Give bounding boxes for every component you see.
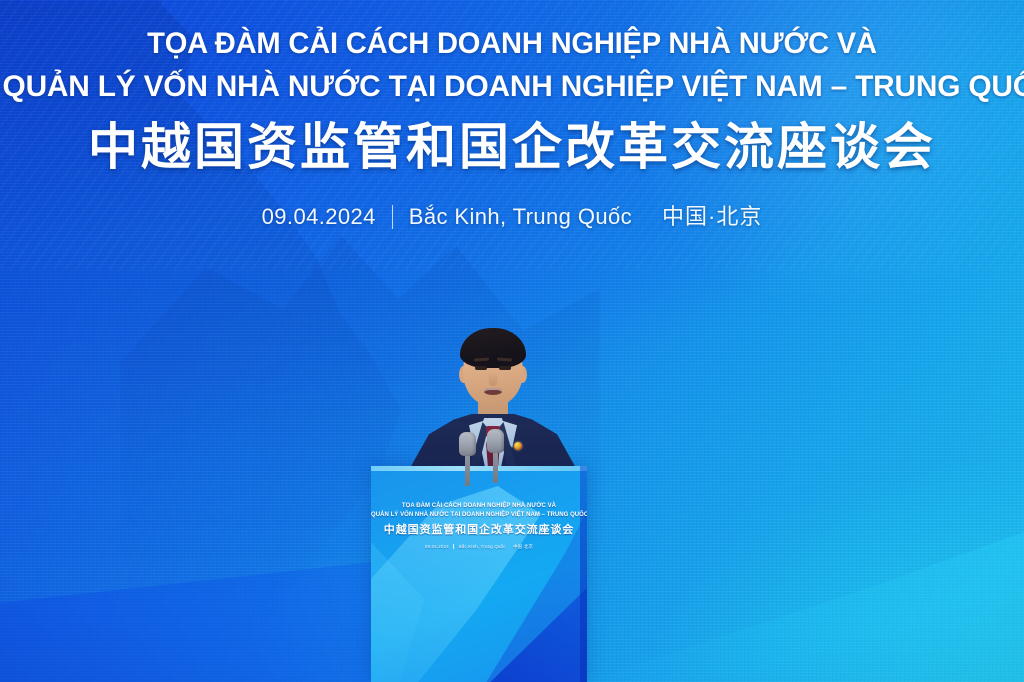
- podium-sign-date: 09.04.2024: [425, 544, 449, 549]
- banner-meta-line: 09.04.2024 Bắc Kinh, Trung Quốc 中国·北京: [0, 202, 1024, 232]
- speaker-nose: [489, 372, 498, 386]
- microphone-right-capsule: [487, 429, 504, 453]
- microphone-left-capsule: [459, 432, 476, 456]
- speaker-lapel-pin: [514, 442, 522, 450]
- speaker-eye-right: [499, 366, 511, 370]
- podium-sign-line-1: TỌA ĐÀM CẢI CÁCH DOANH NGHIỆP NHÀ NƯỚC V…: [371, 502, 587, 511]
- banner-title-line-2: QUẢN LÝ VỐN NHÀ NƯỚC TẠI DOANH NGHIỆP VI…: [3, 65, 1022, 109]
- banner-title-block: TỌA ĐÀM CẢI CÁCH DOANH NGHIỆP NHÀ NƯỚC V…: [0, 24, 1024, 232]
- microphone-right-stem: [493, 453, 498, 483]
- banner-title-line-1: TỌA ĐÀM CẢI CÁCH DOANH NGHIỆP NHÀ NƯỚC V…: [15, 24, 1008, 64]
- podium-sign-chinese: 中越国资监管和国企改革交流座谈会: [371, 522, 587, 538]
- banner-date: 09.04.2024: [262, 202, 376, 232]
- banner-meta-separator: [392, 205, 393, 229]
- podium-sign-location-cn: 中国·北京: [513, 544, 533, 549]
- podium-sign-meta: 09.04.2024 Bắc Kinh, Trung Quốc 中国·北京: [371, 543, 587, 550]
- podium-sign-location-vi: Bắc Kinh, Trung Quốc: [459, 544, 506, 549]
- microphone-right: [487, 429, 504, 483]
- podium-sign-line-2: QUẢN LÝ VỐN NHÀ NƯỚC TẠI DOANH NGHIỆP VI…: [371, 511, 587, 520]
- banner-location-cn: 中国·北京: [662, 202, 762, 232]
- podium-sign-text-block: TỌA ĐÀM CẢI CÁCH DOANH NGHIỆP NHÀ NƯỚC V…: [371, 502, 587, 550]
- microphone-left: [459, 432, 476, 486]
- banner-title-chinese: 中越国资监管和国企改革交流座谈会: [0, 114, 1024, 180]
- podium-right-rail: [580, 466, 587, 682]
- banner-location-vi: Bắc Kinh, Trung Quốc: [409, 202, 632, 232]
- speaker-eye-left: [475, 366, 487, 370]
- event-photo: TỌA ĐÀM CẢI CÁCH DOANH NGHIỆP NHÀ NƯỚC V…: [0, 0, 1024, 682]
- podium-top-edge: [371, 466, 587, 471]
- microphone-left-stem: [465, 456, 470, 486]
- podium: TỌA ĐÀM CẢI CÁCH DOANH NGHIỆP NHÀ NƯỚC V…: [371, 466, 587, 682]
- speaker-mouth: [484, 388, 502, 395]
- speaker-hair: [460, 328, 526, 368]
- podium-sign-separator: [453, 544, 454, 549]
